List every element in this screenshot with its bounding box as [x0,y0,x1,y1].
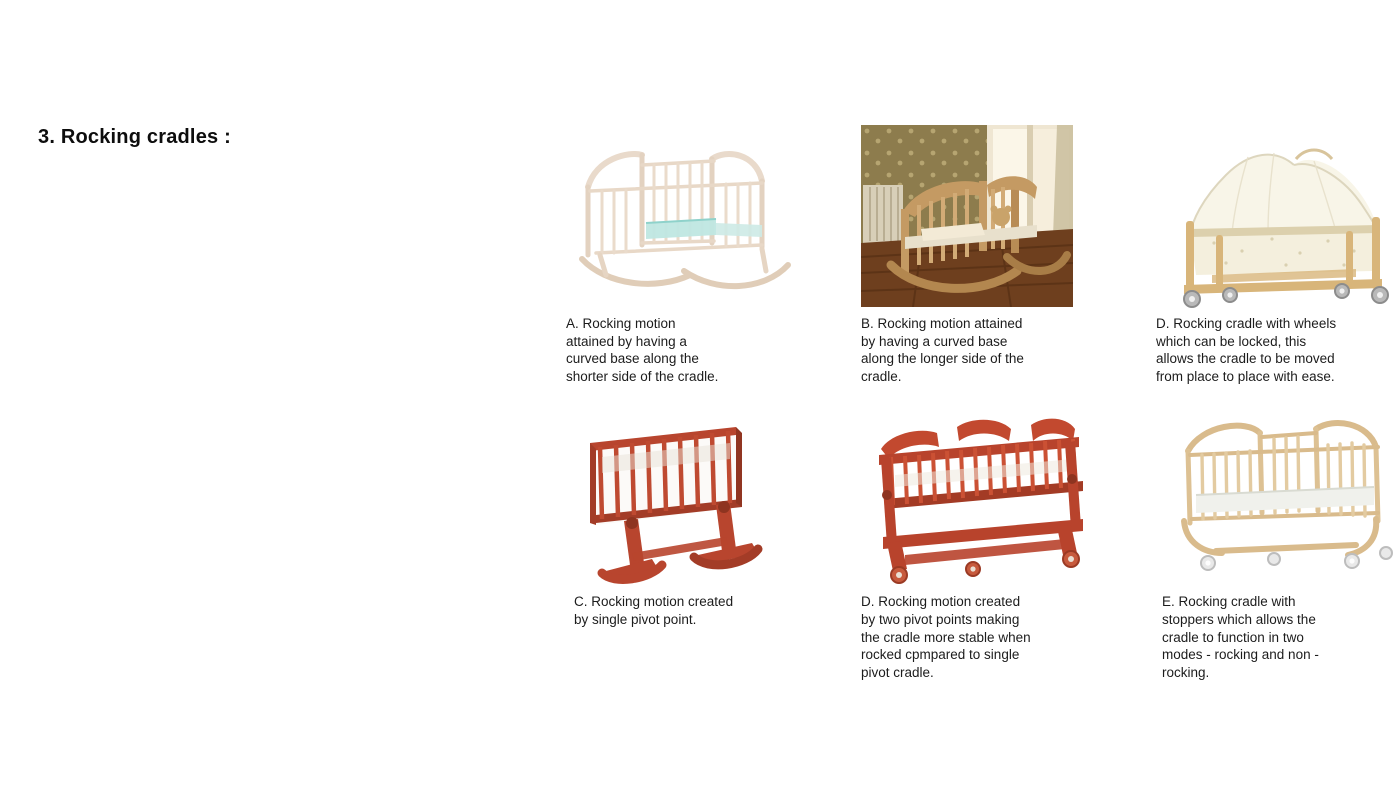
cradle-b-caption: B. Rocking motion attained by having a c… [861,315,1123,385]
cradle-d-pivot-figure [861,403,1123,593]
wooden-cradle-in-room-photo [861,125,1123,315]
cradle-d-wheels-figure [1156,125,1400,315]
cradle-card-b: B. Rocking motion attained by having a c… [861,125,1123,385]
cradle-card-e: E. Rocking cradle with stoppers which al… [1156,403,1400,681]
cradle-card-c: C. Rocking motion created by single pivo… [566,403,828,681]
cradle-a-caption: A. Rocking motion attained by having a c… [566,315,828,385]
white-wooden-rocking-cradle-photo [566,125,828,315]
cradle-a-figure [566,125,828,315]
light-wood-cradle-with-stoppers-photo [1156,403,1400,593]
cradle-row-1: A. Rocking motion attained by having a c… [566,125,1366,385]
page-title: 3. Rocking cradles : [38,126,231,149]
cradle-d-pivot-caption: D. Rocking motion created by two pivot p… [861,593,1123,681]
red-cradle-two-pivot-points-photo [861,403,1123,593]
cradle-card-d-pivot: D. Rocking motion created by two pivot p… [861,403,1123,681]
cradle-e-caption: E. Rocking cradle with stoppers which al… [1156,593,1400,681]
cradle-card-d-wheels: D. Rocking cradle with wheels which can … [1156,125,1400,385]
red-wooden-cradle-single-pivot-photo [566,403,828,593]
cradle-e-figure [1156,403,1400,593]
cradle-row-2: C. Rocking motion created by single pivo… [566,403,1366,681]
cradle-d-wheels-caption: D. Rocking cradle with wheels which can … [1156,315,1400,385]
cradle-c-caption: C. Rocking motion created by single pivo… [566,593,828,628]
cradle-b-figure [861,125,1123,315]
cradle-grid: A. Rocking motion attained by having a c… [566,125,1366,681]
cradle-card-a: A. Rocking motion attained by having a c… [566,125,828,385]
cradle-with-canopy-and-wheels-photo [1156,125,1400,315]
cradle-c-figure [566,403,828,593]
